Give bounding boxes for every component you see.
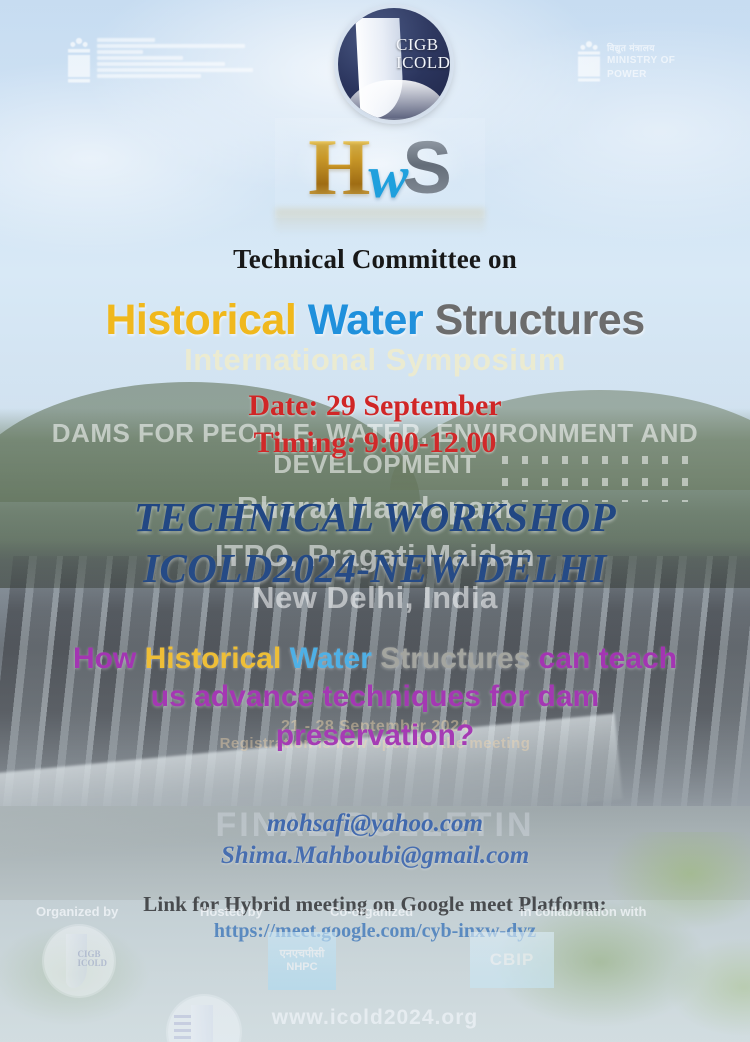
cigb-icold-mini-label: CIGBICOLD <box>77 950 107 969</box>
title-word-water: Water <box>308 296 423 344</box>
emblem-text-line <box>97 38 155 42</box>
workshop-line-1: TECHNICAL WORKSHOP <box>0 492 750 543</box>
ashoka-pillar-icon <box>68 34 90 92</box>
government-of-india-emblem <box>68 34 253 92</box>
emblem-text-line <box>97 50 143 54</box>
dam-authority-partner-logo <box>168 996 240 1042</box>
question-seg-can-teach: can teach <box>539 642 677 675</box>
question-seg-structures: Structures <box>380 642 538 675</box>
event-timing: Timing: 9:00-12.00 <box>0 425 750 462</box>
contact-emails: mohsafi@yahoo.com Shima.Mahboubi@gmail.c… <box>0 808 750 872</box>
collaboration-label: in collaboration with <box>520 904 646 919</box>
question-line-2: us advance techniques for dam <box>0 678 750 716</box>
nhpc-hindi-label: एनएचपीसी <box>280 948 325 961</box>
cigb-text: CIGB <box>396 36 450 54</box>
contact-email-2[interactable]: Shima.Mahboubi@gmail.com <box>0 840 750 872</box>
event-date: Date: 29 September <box>0 388 750 425</box>
hws-wordmark-logo: H w S <box>275 118 485 218</box>
hws-letter-s: S <box>402 131 451 205</box>
conference-poster: International Symposium DAMS FOR PEOPLE,… <box>0 0 750 1042</box>
contact-email-1[interactable]: mohsafi@yahoo.com <box>0 808 750 840</box>
schedule-block: Date: 29 September Timing: 9:00-12.00 <box>0 388 750 461</box>
workshop-line-2: ICOLD2024-NEW DELHI <box>0 543 750 594</box>
organized-by-label: Organized by <box>36 904 118 919</box>
ministry-line-1: MINISTRY OF <box>607 55 675 66</box>
workshop-title: TECHNICAL WORKSHOP ICOLD2024-NEW DELHI <box>0 492 750 595</box>
hws-logo-reflection <box>275 208 485 234</box>
committee-label: Technical Committee on <box>0 244 750 275</box>
question-line-3: preservation? <box>0 717 750 755</box>
page-title: Historical Water Structures <box>0 296 750 345</box>
icold-text: ICOLD <box>396 54 450 72</box>
title-word-historical: Historical <box>105 296 296 344</box>
cbip-label: CBIP <box>490 950 535 970</box>
emblem-text-line <box>97 56 183 60</box>
emblem-text-line <box>97 44 245 48</box>
hws-letter-h: H <box>308 128 370 208</box>
hosted-by-label: Hosted by <box>200 904 263 919</box>
cigb-icold-label: CIGB ICOLD <box>396 36 450 73</box>
ministry-line-2: POWER <box>607 69 647 80</box>
cbip-partner-logo: CBIP <box>470 932 554 988</box>
co-organized-label: Co-organized <box>330 904 413 919</box>
title-word-structures: Structures <box>435 296 645 344</box>
ministry-of-power-text: विद्युत मंत्रालय MINISTRY OF POWER <box>607 38 675 81</box>
ministry-of-power-emblem: विद्युत मंत्रालय MINISTRY OF POWER <box>578 38 675 90</box>
ashoka-pillar-icon <box>578 38 600 90</box>
nhpc-partner-logo: एनएचपीसी NHPC <box>268 932 336 990</box>
cigb-icold-logo: CIGB ICOLD <box>338 8 450 120</box>
question-line-1: How Historical Water Structures can teac… <box>0 640 750 678</box>
ministry-hindi-label: विद्युत मंत्रालय <box>607 42 675 54</box>
emblem-left-text-lines <box>97 34 253 78</box>
partner-logo-strip: Organized by Hosted by Co-organized in c… <box>0 896 750 1004</box>
cigb-icold-partner-logo: CIGBICOLD <box>44 926 114 996</box>
question-seg-water: Water <box>290 642 381 675</box>
question-seg-how: How <box>73 642 145 675</box>
emblem-text-line <box>97 62 225 66</box>
emblem-text-line <box>97 68 253 72</box>
workshop-question: How Historical Water Structures can teac… <box>0 640 750 755</box>
dam-curve-icon <box>191 1005 213 1042</box>
question-seg-historical: Historical <box>145 642 290 675</box>
nhpc-label: NHPC <box>286 961 317 974</box>
emblem-text-line <box>97 74 201 78</box>
